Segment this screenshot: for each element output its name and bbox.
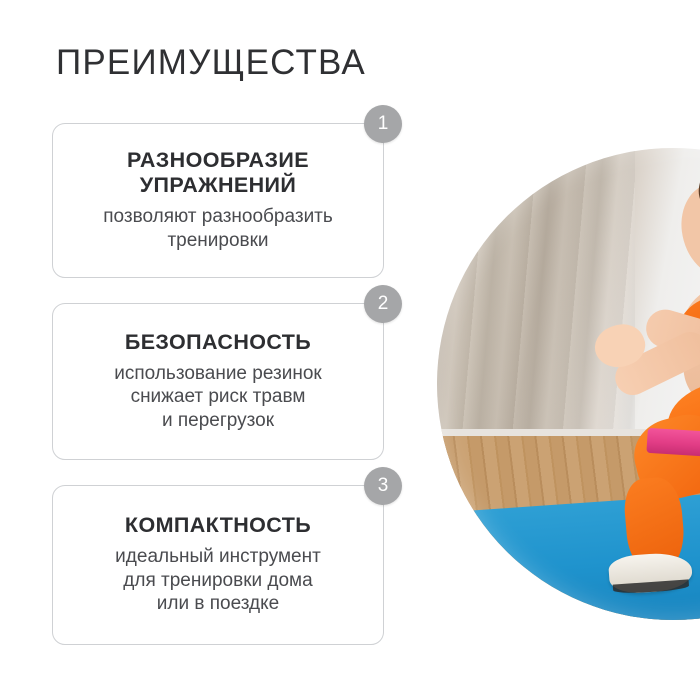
promo-page: ПРЕИМУЩЕСТВА 1 РАЗНООБРАЗИЕ УПРАЖНЕНИЙ п… xyxy=(0,0,700,700)
photo-figure: onlytop xyxy=(437,148,700,620)
benefit-number-badge-3: 3 xyxy=(364,467,402,505)
benefit-card-desc-1: позволяют разнообразить тренировки xyxy=(103,205,333,252)
benefit-card-desc-3: идеальный инструмент для тренировки дома… xyxy=(115,545,321,616)
benefit-card-desc-line-1: позволяют разнообразить xyxy=(103,205,333,229)
benefit-card-title-3: КОМПАКТНОСТЬ xyxy=(125,513,311,538)
benefit-card-title-1: РАЗНООБРАЗИЕ УПРАЖНЕНИЙ xyxy=(127,148,309,198)
benefit-card-desc-line-2: снижает риск травм xyxy=(114,385,321,409)
benefit-number-badge-2: 2 xyxy=(364,285,402,323)
benefit-card-title-line-2: УПРАЖНЕНИЙ xyxy=(127,173,309,198)
photo-shoe-left xyxy=(608,551,693,594)
benefit-card-desc-line-3: или в поездке xyxy=(115,592,321,616)
benefit-card-desc-line-2: для тренировки дома xyxy=(115,569,321,593)
benefit-card-desc-2: использование резинок снижает риск травм… xyxy=(114,362,321,433)
benefit-card-desc-line-1: идеальный инструмент xyxy=(115,545,321,569)
benefit-card-3[interactable]: 3 КОМПАКТНОСТЬ идеальный инструмент для … xyxy=(52,485,384,645)
product-photo-circle: onlytop xyxy=(437,148,700,620)
benefit-card-desc-line-3: и перегрузок xyxy=(114,409,321,433)
benefit-card-desc-line-2: тренировки xyxy=(103,229,333,253)
photo-shoe-sole-left xyxy=(613,579,689,594)
benefit-card-desc-line-1: использование резинок xyxy=(114,362,321,386)
benefit-card-title-line-1: РАЗНООБРАЗИЕ xyxy=(127,148,309,173)
benefit-card-1[interactable]: 1 РАЗНООБРАЗИЕ УПРАЖНЕНИЙ позволяют разн… xyxy=(52,123,384,278)
benefit-cards-list: 1 РАЗНООБРАЗИЕ УПРАЖНЕНИЙ позволяют разн… xyxy=(52,123,384,670)
benefit-card-title-line-1: КОМПАКТНОСТЬ xyxy=(125,513,311,538)
page-title: ПРЕИМУЩЕСТВА xyxy=(56,45,366,80)
benefit-number-badge-1: 1 xyxy=(364,105,402,143)
benefit-card-title-line-1: БЕЗОПАСНОСТЬ xyxy=(125,330,311,355)
product-photo: onlytop xyxy=(437,148,700,620)
photo-head xyxy=(677,179,700,282)
benefit-card-title-2: БЕЗОПАСНОСТЬ xyxy=(125,330,311,355)
benefit-card-2[interactable]: 2 БЕЗОПАСНОСТЬ использование резинок сни… xyxy=(52,303,384,460)
